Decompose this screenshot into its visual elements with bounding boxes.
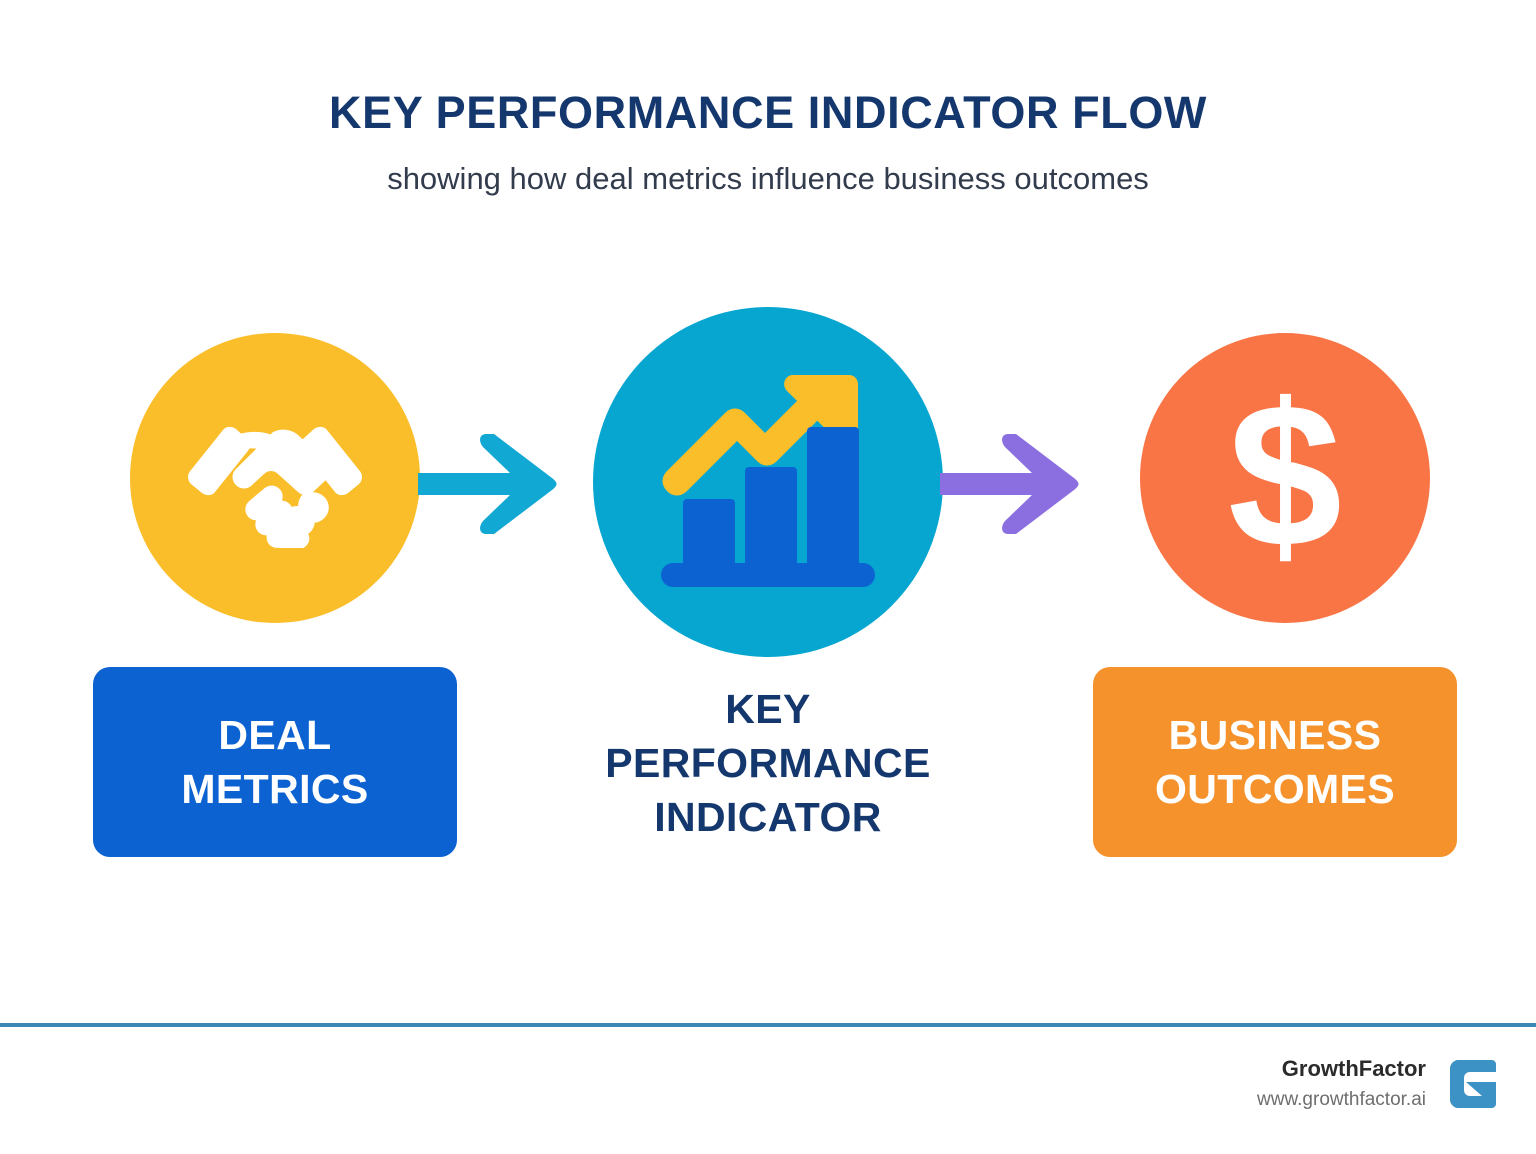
- footer-divider: [0, 1023, 1536, 1027]
- label-box-deal-metrics: DEAL METRICS: [93, 667, 457, 857]
- label-kpi: KEY PERFORMANCE INDICATOR: [548, 682, 988, 844]
- handshake-icon: [185, 408, 365, 548]
- label-line-3: INDICATOR: [548, 790, 988, 844]
- brand-name: GrowthFactor: [1257, 1055, 1426, 1083]
- infographic-canvas: KEY PERFORMANCE INDICATOR FLOW showing h…: [0, 0, 1536, 1154]
- label-line-2: METRICS: [181, 762, 368, 816]
- label-business-outcomes: BUSINESS OUTCOMES: [1155, 708, 1395, 816]
- label-deal-metrics: DEAL METRICS: [181, 708, 368, 816]
- label-kpi-text: KEY PERFORMANCE INDICATOR: [548, 682, 988, 844]
- label-line-1: DEAL: [181, 708, 368, 762]
- node-business-outcomes-circle: $: [1140, 333, 1430, 623]
- footer: GrowthFactor www.growthfactor.ai: [1257, 1055, 1500, 1113]
- label-line-2: PERFORMANCE: [548, 736, 988, 790]
- svg-text:$: $: [1228, 378, 1342, 578]
- growthfactor-g-logo-icon: [1448, 1058, 1500, 1110]
- kpi-flow-diagram: $ DEAL METRICS KEY PERFORMANCE INDICATOR…: [0, 0, 1536, 1154]
- node-kpi-circle: [593, 307, 943, 657]
- arrow-deal-to-kpi: [418, 434, 568, 539]
- label-box-business-outcomes: BUSINESS OUTCOMES: [1093, 667, 1457, 857]
- arrow-right-icon: [940, 521, 1090, 538]
- bar-chart-growth-icon: [653, 367, 883, 597]
- brand-url: www.growthfactor.ai: [1257, 1087, 1426, 1114]
- label-line-1: BUSINESS: [1155, 708, 1395, 762]
- dollar-sign-icon: $: [1210, 378, 1360, 578]
- label-line-2: OUTCOMES: [1155, 762, 1395, 816]
- node-deal-metrics-circle: [130, 333, 420, 623]
- arrow-right-icon: [418, 521, 568, 538]
- arrow-kpi-to-outcomes: [940, 434, 1090, 539]
- footer-brand-text: GrowthFactor www.growthfactor.ai: [1257, 1055, 1426, 1113]
- label-line-1: KEY: [548, 682, 988, 736]
